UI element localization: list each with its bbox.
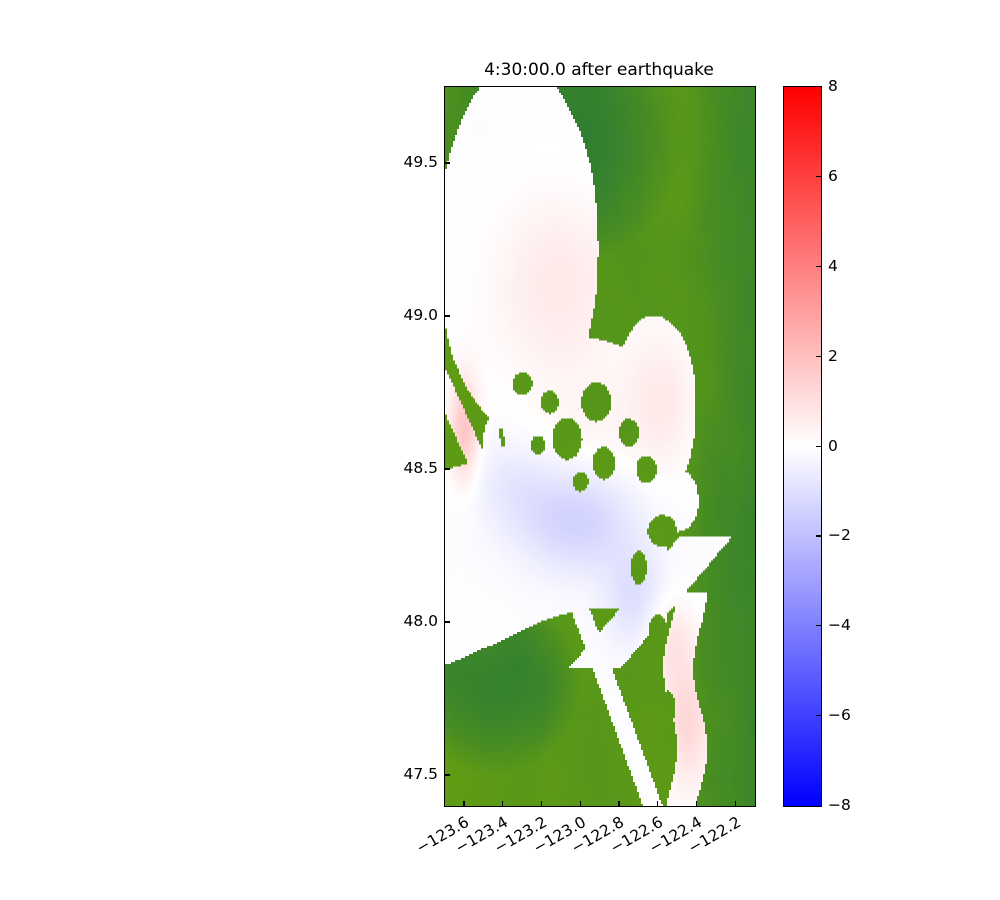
colorbar-tick-mark bbox=[816, 625, 821, 626]
x-tick-mark bbox=[463, 801, 464, 806]
y-tick-mark bbox=[445, 315, 450, 316]
colorbar-tick-label: 6 bbox=[828, 167, 838, 185]
colorbar-tick-mark bbox=[816, 535, 821, 536]
tsunami-heatmap bbox=[445, 87, 755, 806]
colorbar-tick-label: 8 bbox=[828, 77, 838, 95]
y-tick-label: 48.5 bbox=[403, 459, 438, 477]
y-tick-mark bbox=[445, 774, 450, 775]
x-tick-mark bbox=[580, 801, 581, 806]
y-tick-mark bbox=[445, 468, 450, 469]
colorbar-tick-mark bbox=[816, 715, 821, 716]
colorbar-tick-label: 4 bbox=[828, 257, 838, 275]
x-tick-mark bbox=[735, 801, 736, 806]
colorbar-tick-label: −2 bbox=[828, 526, 851, 544]
colorbar-tick-mark bbox=[816, 446, 821, 447]
y-tick-mark bbox=[445, 621, 450, 622]
y-tick-label: 47.5 bbox=[403, 765, 438, 783]
matplotlib-figure: 4:30:00.0 after earthquake 47.548.048.54… bbox=[0, 0, 1000, 900]
x-tick-mark bbox=[618, 801, 619, 806]
y-tick-label: 49.0 bbox=[403, 306, 438, 324]
x-tick-mark bbox=[541, 801, 542, 806]
y-tick-mark bbox=[445, 162, 450, 163]
colorbar-tick-label: −6 bbox=[828, 706, 851, 724]
map-axes[interactable] bbox=[444, 86, 756, 807]
x-tick-mark bbox=[657, 801, 658, 806]
colorbar-tick-mark bbox=[816, 266, 821, 267]
colorbar-tick-label: −4 bbox=[828, 616, 851, 634]
x-tick-mark bbox=[502, 801, 503, 806]
y-tick-label: 48.0 bbox=[403, 612, 438, 630]
colorbar-tick-label: −8 bbox=[828, 796, 851, 814]
colorbar-tick-label: 2 bbox=[828, 347, 838, 365]
plot-title: 4:30:00.0 after earthquake bbox=[444, 60, 754, 80]
colorbar-tick-mark bbox=[816, 176, 821, 177]
colorbar-tick-label: 0 bbox=[828, 437, 838, 455]
y-tick-label: 49.5 bbox=[403, 153, 438, 171]
colorbar-tick-mark bbox=[816, 356, 821, 357]
x-tick-mark bbox=[696, 801, 697, 806]
